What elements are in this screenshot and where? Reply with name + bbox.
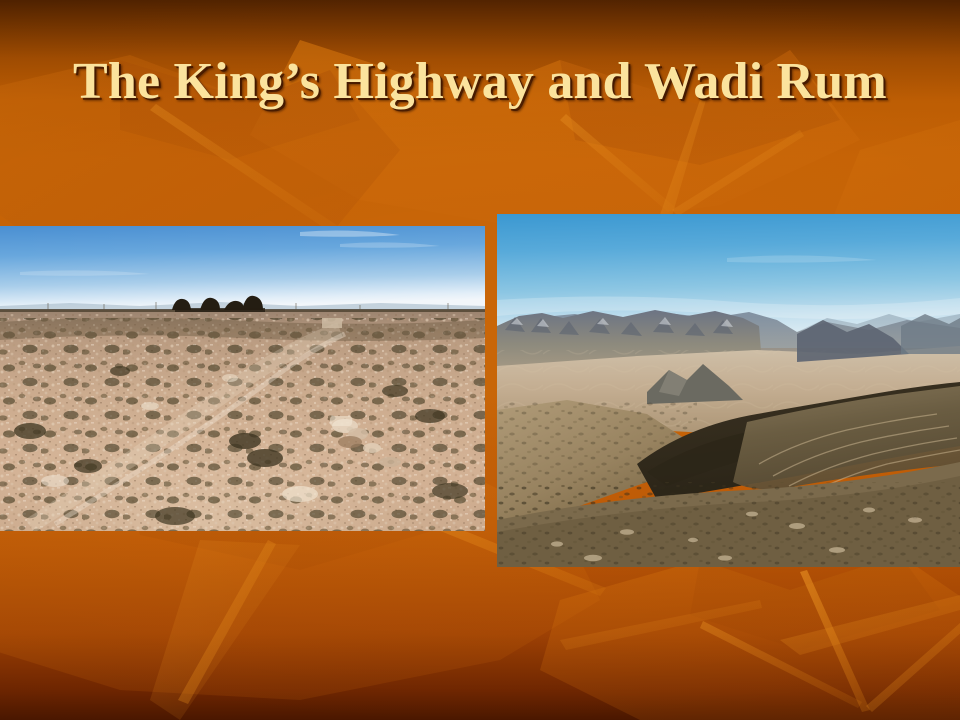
- presentation-slide: The King’s Highway and Wadi Rum: [0, 0, 960, 720]
- sky: [0, 226, 485, 310]
- stony-desert-plain-photo[interactable]: [0, 226, 485, 531]
- distant-structure: [322, 318, 342, 328]
- slide-title-placeholder: The King’s Highway and Wadi Rum: [0, 54, 960, 109]
- stony-desert-plain-illustration: [0, 226, 485, 531]
- wadi-rum-valley-panorama-photo[interactable]: [497, 214, 960, 567]
- page-title: The King’s Highway and Wadi Rum: [73, 54, 887, 109]
- wadi-rum-valley-illustration: [497, 214, 960, 567]
